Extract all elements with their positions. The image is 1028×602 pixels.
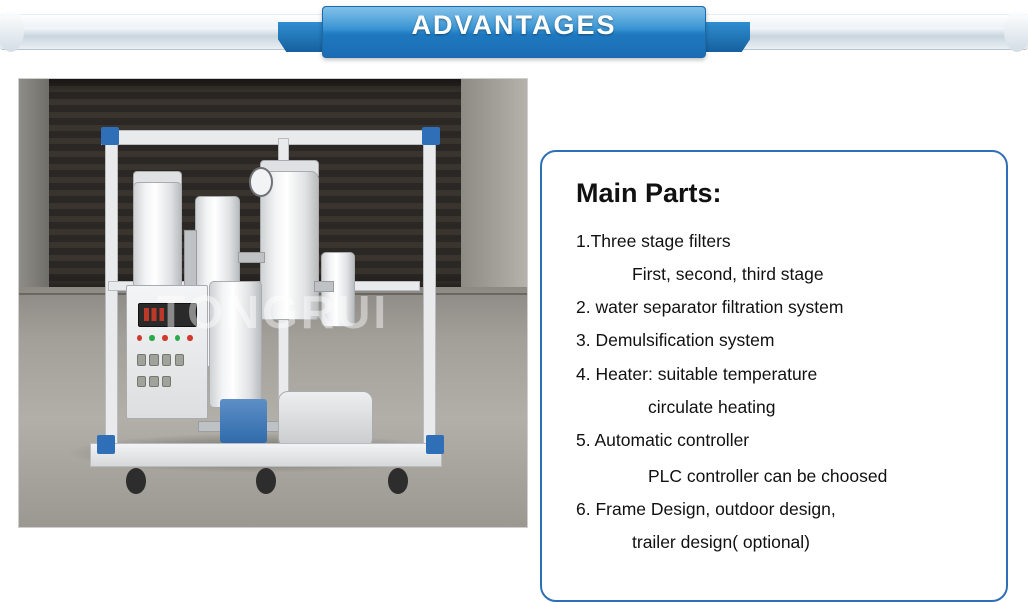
caster-wheel-middle xyxy=(256,468,276,494)
main-parts-card: Main Parts: 1.Three stage filters First,… xyxy=(540,150,1008,602)
pressure-gauge xyxy=(249,167,273,197)
panel-button-2[interactable] xyxy=(149,354,158,365)
frame-top-rail xyxy=(101,130,428,144)
page-title: ADVANTAGES xyxy=(0,0,1028,50)
main-parts-item-2: 2. water separator filtration system xyxy=(576,297,982,317)
pipe-horizontal-mid xyxy=(238,252,265,263)
panel-button-5[interactable] xyxy=(137,376,146,387)
panel-button-4[interactable] xyxy=(175,354,184,365)
vacuum-pump xyxy=(278,391,374,448)
electric-motor xyxy=(220,399,267,443)
photo-watermark: TONGRUI xyxy=(29,285,517,339)
frame-corner-bottom-right xyxy=(426,435,444,453)
caster-wheel-left xyxy=(126,468,146,494)
background-wall-right xyxy=(461,79,527,312)
product-photo: TONGRUI xyxy=(18,78,528,528)
main-parts-item-1: 1.Three stage filters xyxy=(576,231,982,251)
page-header: ADVANTAGES xyxy=(0,0,1028,70)
panel-button-1[interactable] xyxy=(137,354,146,365)
frame-corner-top-left xyxy=(101,127,119,145)
panel-button-7[interactable] xyxy=(162,376,171,387)
caster-wheel-right xyxy=(388,468,408,494)
main-parts-item-4: 4. Heater: suitable temperature xyxy=(576,364,982,384)
main-parts-item-6: 6. Frame Design, outdoor design, xyxy=(576,499,982,519)
frame-base-platform xyxy=(90,443,442,467)
content-area: TONGRUI Main Parts: 1.Three stage filter… xyxy=(0,70,1028,552)
background-wall-left xyxy=(19,79,49,312)
main-parts-item-5: 5. Automatic controller xyxy=(576,430,982,450)
frame-corner-top-right xyxy=(422,127,440,145)
main-parts-item-3: 3. Demulsification system xyxy=(576,330,982,350)
panel-button-3[interactable] xyxy=(162,354,171,365)
main-parts-item-1-sub: First, second, third stage xyxy=(576,264,982,284)
frame-corner-bottom-left xyxy=(97,435,115,453)
panel-button-6[interactable] xyxy=(149,376,158,387)
main-parts-item-4-sub: circulate heating xyxy=(576,397,982,417)
main-parts-item-5-sub: PLC controller can be choosed xyxy=(576,466,982,486)
product-photo-image: TONGRUI xyxy=(19,79,527,527)
card-title: Main Parts: xyxy=(576,178,982,209)
main-parts-item-6-sub: trailer design( optional) xyxy=(576,532,982,552)
